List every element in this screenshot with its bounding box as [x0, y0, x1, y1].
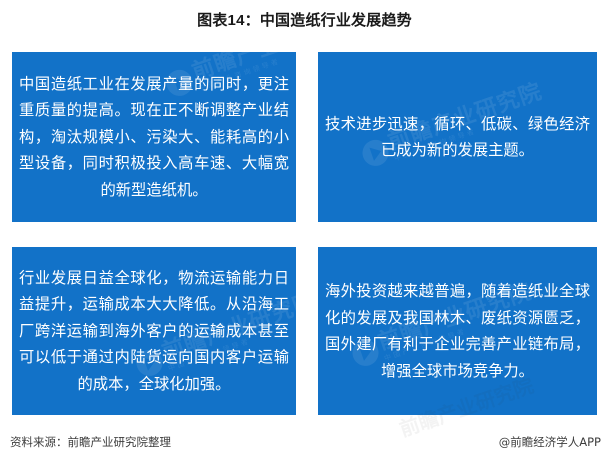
brand-credit: @前瞻经济学人APP: [499, 431, 601, 453]
info-box-overseas-investment: 前瞻产业研究院 中国产业咨询领导者 海外投资越来越普遍，随着造纸业全球化的发展及…: [318, 247, 597, 415]
info-box-text: 海外投资越来越普遍，随着造纸业全球化的发展及我国林木、废纸资源匮乏，国外建厂有利…: [318, 278, 597, 384]
source-note: 资料来源：前瞻产业研究院整理: [10, 431, 171, 453]
box-grid: 前瞻产业研究院 中国产业咨询领导者 中国造纸工业在发展产量的同时，更注重质量的提…: [12, 52, 597, 415]
info-box-globalization-logistics: 前瞻产业研究院 中国产业咨询领导者 行业发展日益全球化，物流运输能力日益提升，运…: [12, 247, 296, 415]
info-box-text: 行业发展日益全球化，物流运输能力日益提升，运输成本大大降低。从沿海工厂跨洋运输到…: [12, 265, 296, 398]
info-box-text: 中国造纸工业在发展产量的同时，更注重质量的提高。现在正不断调整产业结构，淘汰规模…: [12, 71, 296, 204]
info-box-quality-upgrade: 前瞻产业研究院 中国产业咨询领导者 中国造纸工业在发展产量的同时，更注重质量的提…: [12, 52, 296, 222]
info-box-technology-green: 前瞻产业研究院 中国产业咨询领导者 技术进步迅速，循环、低碳、绿色经济已成为新的…: [318, 52, 597, 222]
info-box-text: 技术进步迅速，循环、低碳、绿色经济已成为新的发展主题。: [318, 111, 597, 164]
footer: 资料来源：前瞻产业研究院整理 @前瞻经济学人APP: [0, 431, 609, 453]
page-title: 图表14：中国造纸行业发展趋势: [0, 11, 609, 31]
figure-container: 图表14：中国造纸行业发展趋势 前瞻产业研究院 中国产业咨询领导者 中国造纸工业…: [0, 0, 609, 462]
